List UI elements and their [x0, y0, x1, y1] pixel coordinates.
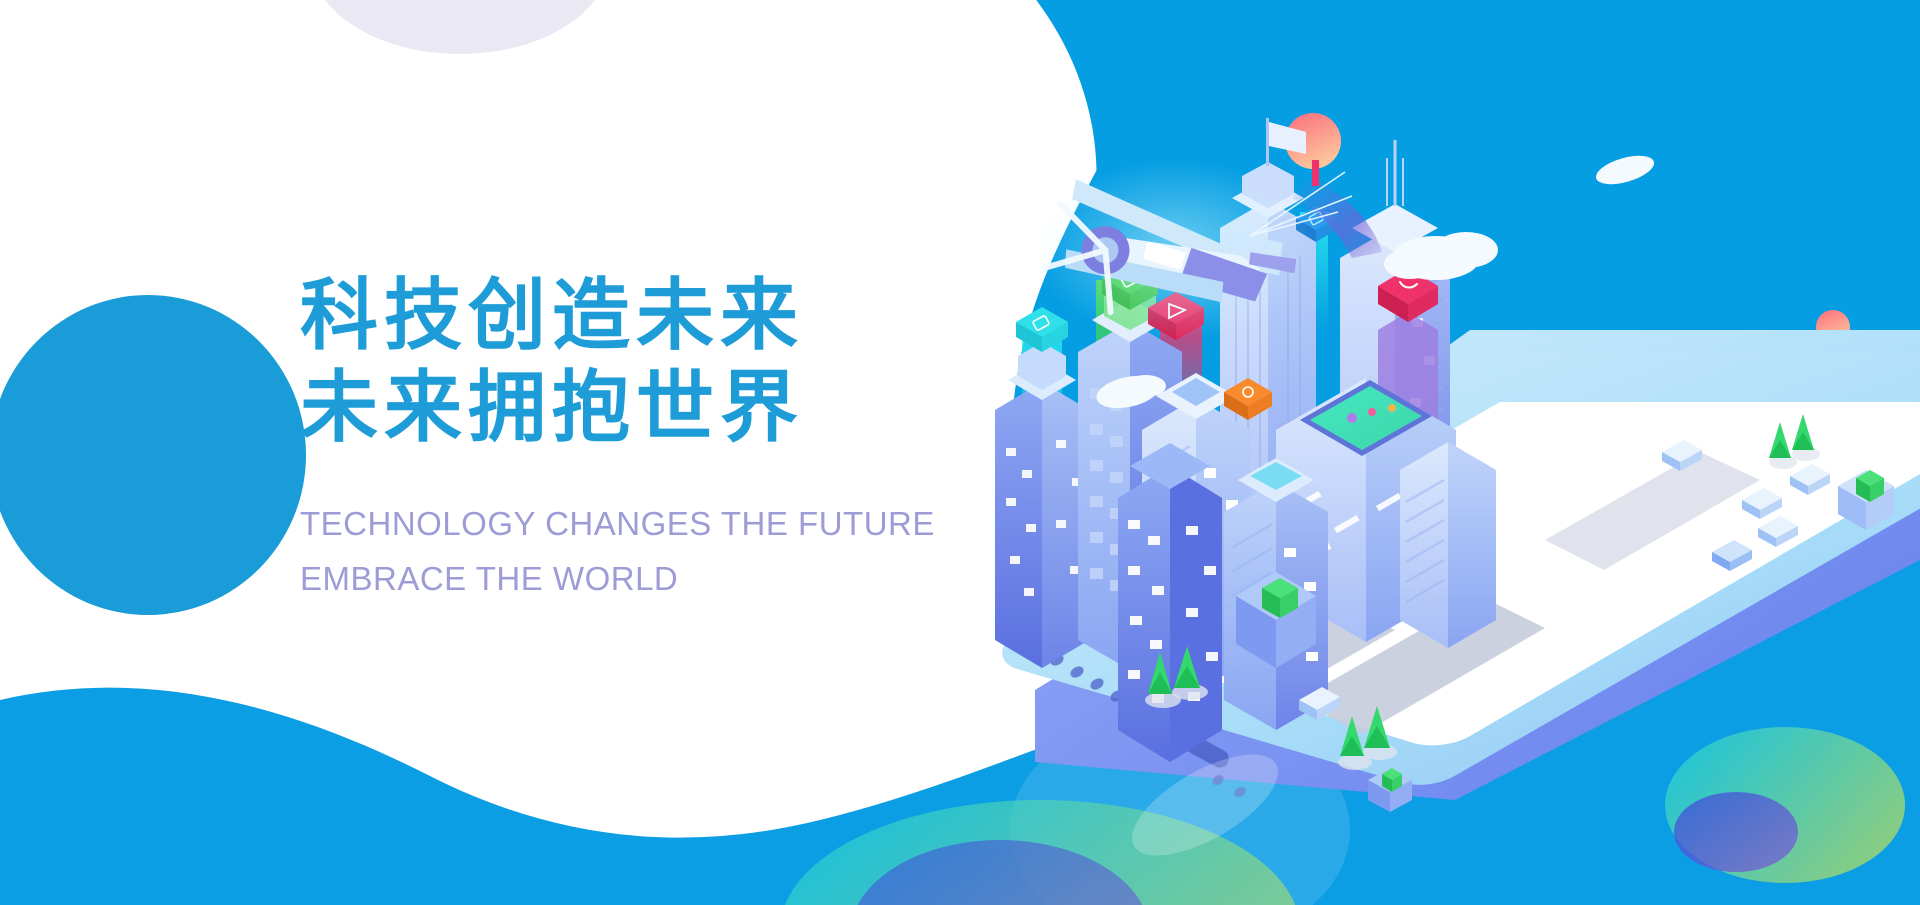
- plane-kite-tag: [1312, 160, 1319, 186]
- tower-flag: [1269, 122, 1306, 154]
- cloud-5: [1430, 256, 1450, 268]
- tower-flag-pole: [1266, 118, 1269, 166]
- cloud-4: [1593, 150, 1657, 190]
- hero-banner: 科技创造未来 未来拥抱世界 TECHNOLOGY CHANGES THE FUT…: [0, 0, 1920, 905]
- hero-text-block: 科技创造未来 未来拥抱世界 TECHNOLOGY CHANGES THE FUT…: [300, 270, 1060, 606]
- headline: 科技创造未来 未来拥抱世界: [300, 270, 1060, 454]
- building-far-right-striped: [1400, 442, 1496, 648]
- subtitle-line-2: EMBRACE THE WORLD: [300, 551, 1060, 606]
- building-front-left-dark: [1118, 443, 1222, 762]
- airplane-group: [1035, 160, 1382, 358]
- headline-line-2: 未来拥抱世界: [300, 362, 1060, 454]
- subtitle-line-1: TECHNOLOGY CHANGES THE FUTURE: [300, 496, 1060, 551]
- headline-line-1: 科技创造未来: [300, 270, 1060, 362]
- subtitle: TECHNOLOGY CHANGES THE FUTURE EMBRACE TH…: [300, 496, 1060, 606]
